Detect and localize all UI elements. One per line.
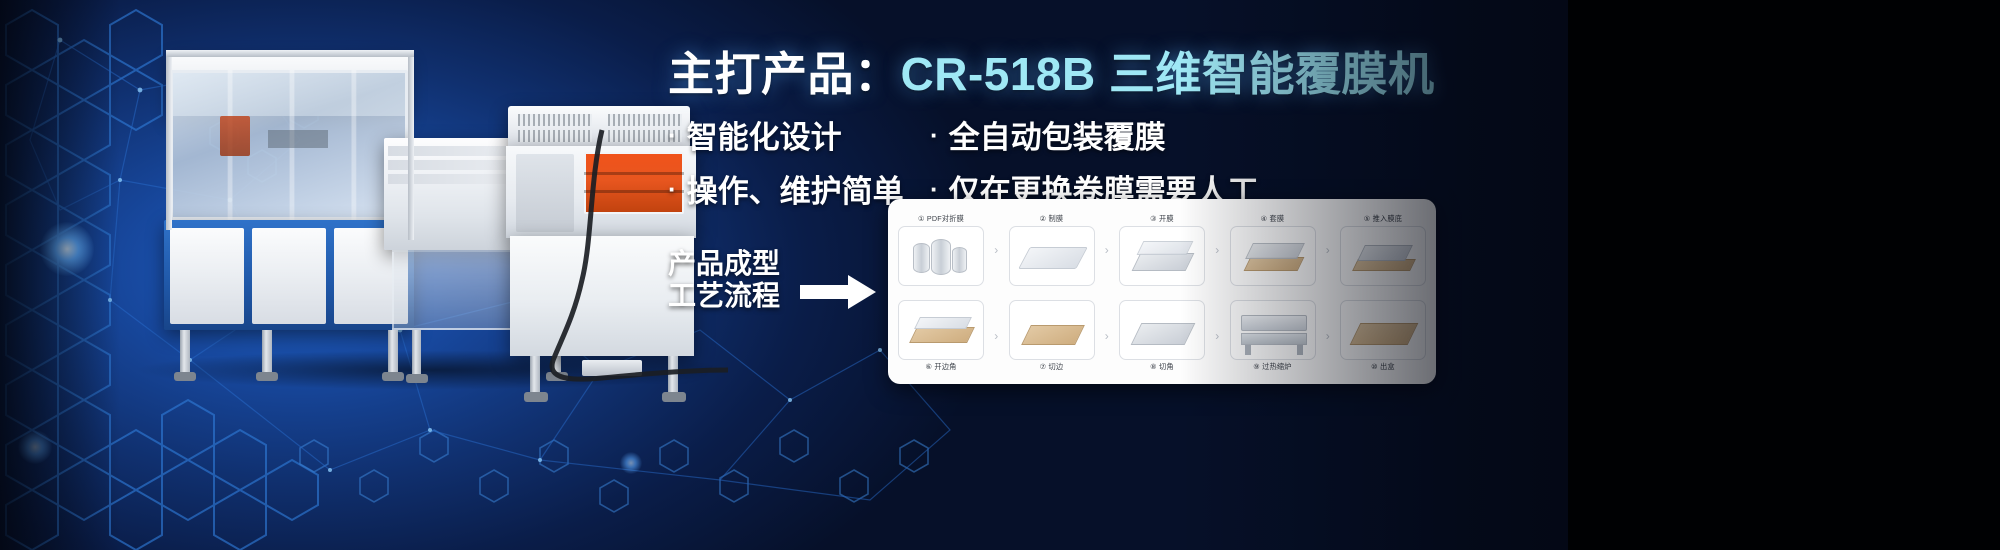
flow-step-label: PDF对折膜 bbox=[927, 214, 964, 223]
process-flow-label: 产品成型 工艺流程 bbox=[668, 248, 780, 313]
flow-step-thumb bbox=[1009, 226, 1095, 286]
flow-step-1[interactable]: ① PDF对折膜 bbox=[898, 214, 984, 286]
flow-step-thumb bbox=[1009, 300, 1095, 360]
flow-step-num: ⑦ bbox=[1040, 362, 1047, 371]
flow-step-thumb bbox=[898, 226, 984, 286]
right-black-panel bbox=[1568, 0, 2000, 550]
flow-separator: › bbox=[1100, 329, 1114, 343]
flow-step-7[interactable]: ⑦ 切边 bbox=[1009, 300, 1095, 372]
flow-step-label: 开边角 bbox=[934, 362, 956, 371]
title-prefix: 主打产品： bbox=[668, 48, 901, 100]
flow-step-6[interactable]: ⑥ 开边角 bbox=[898, 300, 984, 372]
process-flow-label-line2: 工艺流程 bbox=[668, 280, 780, 312]
feature-label: 操作、维护简单 bbox=[687, 166, 904, 211]
flow-separator: › bbox=[1100, 243, 1114, 257]
right-arrow-icon bbox=[800, 275, 876, 309]
bullet-icon: · bbox=[668, 122, 677, 148]
feature-item-1: · 智能化设计 bbox=[668, 112, 930, 157]
flow-step-label: 制膜 bbox=[1049, 214, 1064, 223]
bullet-icon: · bbox=[668, 176, 677, 202]
flow-step-num: ⑧ bbox=[1150, 362, 1157, 371]
flow-step-num: ② bbox=[1040, 214, 1047, 223]
feature-label: 智能化设计 bbox=[687, 112, 842, 157]
flow-step-num: ⑥ bbox=[925, 362, 932, 371]
flow-step-thumb bbox=[898, 300, 984, 360]
flow-step-num: ① bbox=[918, 214, 925, 223]
bullet-icon: · bbox=[930, 176, 939, 202]
flow-step-num: ③ bbox=[1150, 214, 1157, 223]
flow-step-2[interactable]: ② 制膜 bbox=[1009, 214, 1095, 286]
feature-label: 全自动包装覆膜 bbox=[949, 112, 1166, 157]
bullet-icon: · bbox=[930, 122, 939, 148]
process-flow-label-line1: 产品成型 bbox=[668, 248, 780, 280]
flow-separator: › bbox=[989, 329, 1003, 343]
title-model: CR-518B bbox=[901, 48, 1096, 100]
left-vignette bbox=[0, 0, 120, 550]
feature-list: · 智能化设计 · 全自动包装覆膜 · 操作、维护简单 · 仅在更换卷膜需要人工 bbox=[668, 112, 1259, 211]
flow-step-label: 切边 bbox=[1049, 362, 1064, 371]
flow-step-label: 开膜 bbox=[1159, 214, 1174, 223]
flow-step-label: 切角 bbox=[1159, 362, 1174, 371]
flow-separator: › bbox=[989, 243, 1003, 257]
product-banner: 主打产品：CR-518B 三维智能覆膜机 · 智能化设计 · 全自动包装覆膜 ·… bbox=[0, 0, 2000, 550]
